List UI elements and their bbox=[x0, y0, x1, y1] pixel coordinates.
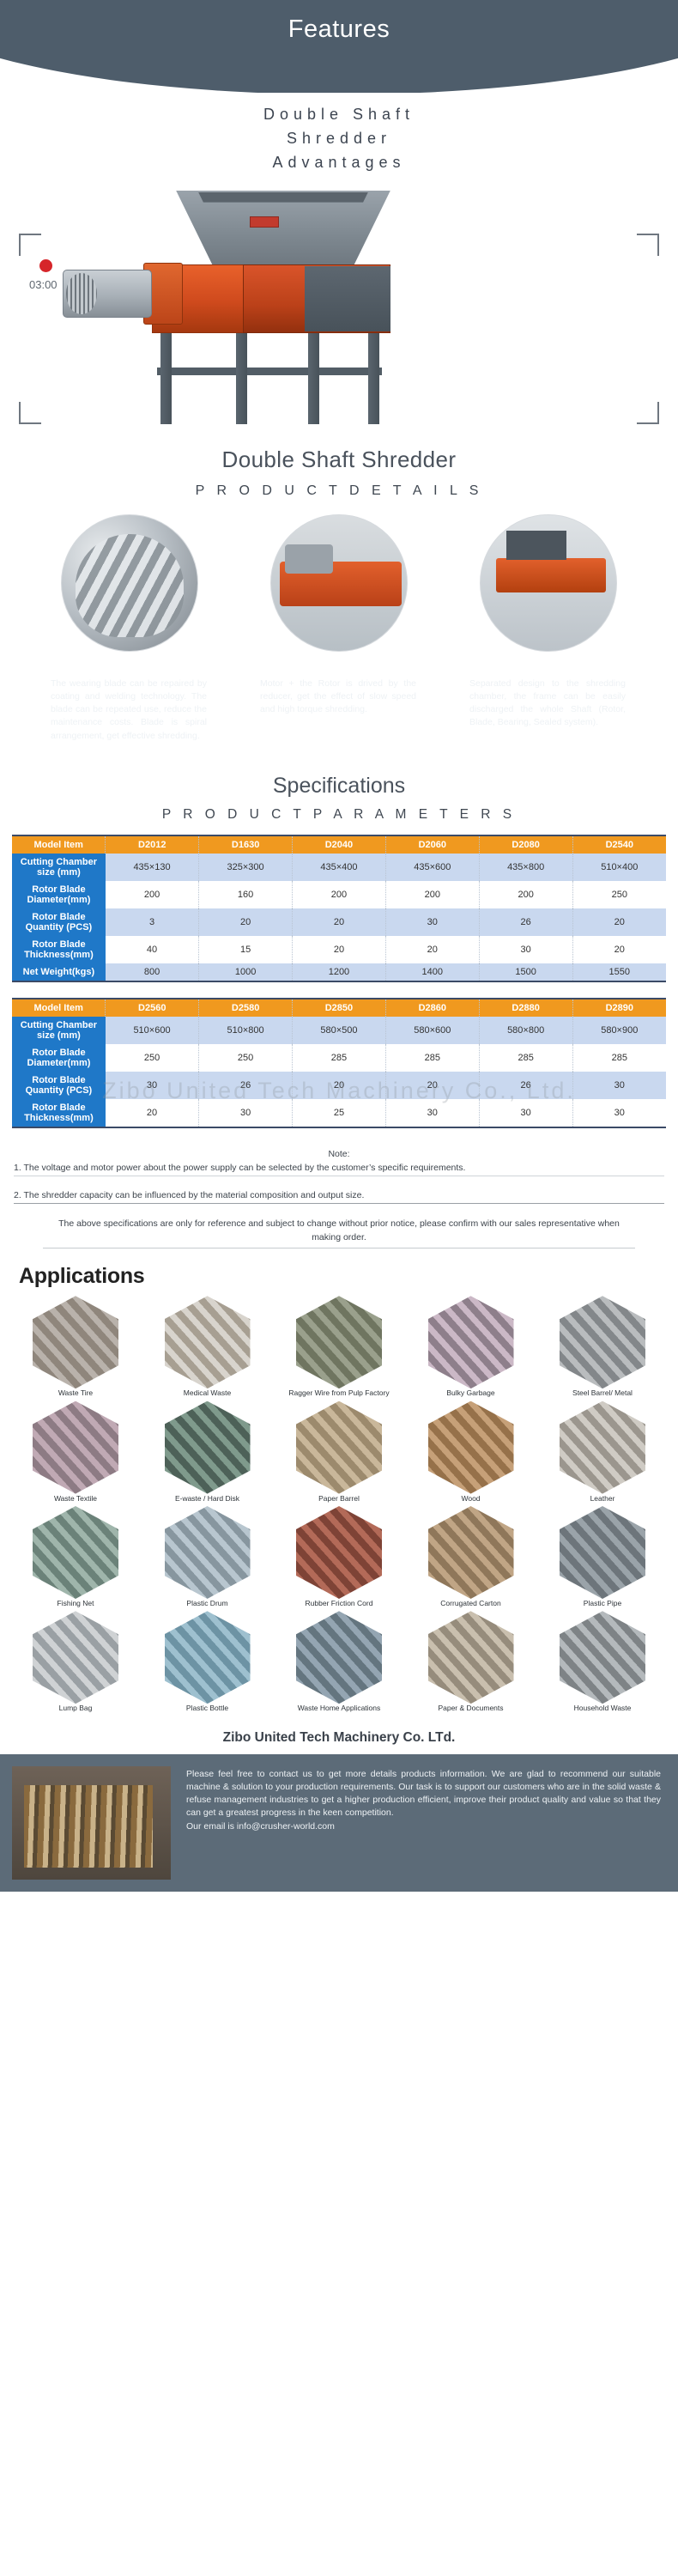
column-header-model-item: Model Item bbox=[12, 835, 106, 854]
spec-notes: Note: 1. The voltage and motor power abo… bbox=[0, 1144, 678, 1249]
row-label: Cutting Chamber size (mm) bbox=[12, 854, 106, 881]
table-cell: 20 bbox=[293, 1072, 386, 1099]
application-caption: Plastic Drum bbox=[149, 1600, 266, 1607]
application-image bbox=[560, 1401, 645, 1494]
footer-contact: Please feel free to contact us to get mo… bbox=[0, 1754, 678, 1892]
table-cell: 510×800 bbox=[199, 1017, 293, 1044]
note-2: 2. The shredder capacity can be influenc… bbox=[14, 1190, 664, 1204]
application-item[interactable]: Paper & Documents bbox=[413, 1611, 530, 1712]
spec-tables: Model ItemD2012D1630D2040D2060D2080D2540… bbox=[0, 835, 678, 1128]
table-cell: 435×600 bbox=[385, 854, 479, 881]
row-label: Rotor Blade Diameter(mm) bbox=[12, 881, 106, 908]
table-cell: 510×400 bbox=[572, 854, 666, 881]
separated-frame-image bbox=[480, 514, 617, 652]
note-1: 1. The voltage and motor power about the… bbox=[14, 1163, 664, 1176]
table-cell: 30 bbox=[385, 1099, 479, 1127]
feature-item: The wearing blade can be repaired by coa… bbox=[35, 514, 224, 751]
table-cell: 30 bbox=[385, 908, 479, 936]
table-cell: 20 bbox=[572, 936, 666, 963]
application-image bbox=[165, 1611, 251, 1704]
table-row: Rotor Blade Thickness(mm)203025303030 bbox=[12, 1099, 666, 1127]
column-header-model: D2890 bbox=[572, 999, 666, 1017]
feature-item: Separated design to the shredding chambe… bbox=[454, 514, 643, 751]
application-image bbox=[33, 1401, 118, 1494]
application-image bbox=[165, 1401, 251, 1494]
company-name: Zibo United Tech Machinery Co. LTd. bbox=[0, 1716, 678, 1754]
table-cell: 250 bbox=[106, 1044, 199, 1072]
table-cell: 40 bbox=[106, 936, 199, 963]
table-cell: 435×130 bbox=[106, 854, 199, 881]
table-row: Rotor Blade Thickness(mm)401520203020 bbox=[12, 936, 666, 963]
machine-hopper-rim bbox=[198, 192, 368, 203]
feature-text: Separated design to the shredding chambe… bbox=[454, 664, 643, 738]
row-label: Rotor Blade Diameter(mm) bbox=[12, 1044, 106, 1072]
application-item[interactable]: Plastic Drum bbox=[149, 1506, 266, 1607]
application-item[interactable]: Waste Textile bbox=[17, 1401, 134, 1503]
table-row: Net Weight(kgs)80010001200140015001550 bbox=[12, 963, 666, 981]
application-item[interactable]: E-waste / Hard Disk bbox=[149, 1401, 266, 1503]
application-caption: Plastic Bottle bbox=[149, 1704, 266, 1712]
table-cell: 20 bbox=[293, 908, 386, 936]
table-cell: 1200 bbox=[293, 963, 386, 981]
application-image bbox=[33, 1506, 118, 1599]
table-cell: 30 bbox=[479, 1099, 572, 1127]
table-row: Rotor Blade Quantity (PCS)32020302620 bbox=[12, 908, 666, 936]
column-header-model: D2860 bbox=[385, 999, 479, 1017]
table-cell: 26 bbox=[199, 1072, 293, 1099]
application-image bbox=[165, 1506, 251, 1599]
column-header-model: D2040 bbox=[293, 835, 386, 854]
machine-leg-crossbar bbox=[157, 368, 382, 375]
feature-text: The wearing blade can be repaired by coa… bbox=[35, 664, 224, 751]
row-label: Rotor Blade Thickness(mm) bbox=[12, 936, 106, 963]
product-video-frame[interactable]: 03:00 bbox=[0, 184, 678, 441]
specifications-title: Specifications bbox=[0, 774, 678, 799]
application-caption: Wood bbox=[413, 1495, 530, 1503]
feature-text: Motor + the Rotor is drived by the reduc… bbox=[245, 664, 433, 726]
application-caption: Waste Home Applications bbox=[281, 1704, 397, 1712]
column-header-model: D2012 bbox=[106, 835, 199, 854]
machine-leg bbox=[160, 333, 172, 424]
feature-columns: The wearing blade can be repaired by coa… bbox=[0, 514, 678, 751]
table-cell: 200 bbox=[293, 881, 386, 908]
spec-table-2: Model ItemD2560D2580D2850D2860D2880D2890… bbox=[12, 998, 666, 1128]
application-image bbox=[296, 1611, 382, 1704]
application-item[interactable]: Waste Tire bbox=[17, 1296, 134, 1397]
application-item[interactable]: Waste Home Applications bbox=[281, 1611, 397, 1712]
footer-body: Please feel free to contact us to get mo… bbox=[186, 1769, 661, 1819]
application-caption: Bulky Garbage bbox=[413, 1389, 530, 1397]
application-item[interactable]: Rubber Friction Cord bbox=[281, 1506, 397, 1607]
application-item[interactable]: Fishing Net bbox=[17, 1506, 134, 1607]
application-image bbox=[296, 1296, 382, 1388]
table-cell: 250 bbox=[572, 881, 666, 908]
table-cell: 325×300 bbox=[199, 854, 293, 881]
frame-corner-bottom-right bbox=[637, 402, 659, 424]
table-cell: 1400 bbox=[385, 963, 479, 981]
application-image bbox=[560, 1296, 645, 1388]
application-caption: Fishing Net bbox=[17, 1600, 134, 1607]
subheading-line-1: Double Shaft bbox=[0, 103, 678, 127]
subheading-line-3: Advantages bbox=[0, 151, 678, 175]
table-cell: 580×800 bbox=[479, 1017, 572, 1044]
table-cell: 285 bbox=[572, 1044, 666, 1072]
table-row: Cutting Chamber size (mm)510×600510×8005… bbox=[12, 1017, 666, 1044]
table-cell: 1500 bbox=[479, 963, 572, 981]
table-cell: 200 bbox=[106, 881, 199, 908]
row-label: Rotor Blade Thickness(mm) bbox=[12, 1099, 106, 1127]
column-header-model: D2560 bbox=[106, 999, 199, 1017]
shredder-chamber-photo bbox=[12, 1766, 171, 1880]
frame-corner-bottom-left bbox=[19, 402, 41, 424]
table-cell: 1550 bbox=[572, 963, 666, 981]
application-image bbox=[560, 1506, 645, 1599]
applications-row: Waste TireMedical WasteRagger Wire from … bbox=[17, 1296, 661, 1397]
table-cell: 200 bbox=[479, 881, 572, 908]
notes-heading: Note: bbox=[14, 1149, 664, 1159]
table-cell: 3 bbox=[106, 908, 199, 936]
motor-rotor-image bbox=[270, 514, 408, 652]
table-row: Rotor Blade Quantity (PCS)302620202630 bbox=[12, 1072, 666, 1099]
application-image bbox=[428, 1611, 514, 1704]
table-cell: 510×600 bbox=[106, 1017, 199, 1044]
table-cell: 800 bbox=[106, 963, 199, 981]
feature-item: Motor + the Rotor is drived by the reduc… bbox=[245, 514, 433, 751]
application-caption: Medical Waste bbox=[149, 1389, 266, 1397]
table-cell: 580×600 bbox=[385, 1017, 479, 1044]
table-header-row: Model ItemD2012D1630D2040D2060D2080D2540 bbox=[12, 835, 666, 854]
application-item[interactable]: Lump Bag bbox=[17, 1611, 134, 1712]
table-row: Cutting Chamber size (mm)435×130325×3004… bbox=[12, 854, 666, 881]
table-cell: 160 bbox=[199, 881, 293, 908]
table-cell: 20 bbox=[385, 1072, 479, 1099]
table-header-row: Model ItemD2560D2580D2850D2860D2880D2890 bbox=[12, 999, 666, 1017]
application-caption: Steel Barrel/ Metal bbox=[544, 1389, 661, 1397]
column-header-model: D2880 bbox=[479, 999, 572, 1017]
table-cell: 1000 bbox=[199, 963, 293, 981]
application-image bbox=[428, 1506, 514, 1599]
machine-body-rear bbox=[305, 266, 390, 331]
table-cell: 285 bbox=[385, 1044, 479, 1072]
specifications-subtitle: P R O D U C T P A R A M E T E R S bbox=[0, 807, 678, 823]
table-row: Rotor Blade Diameter(mm)2502502852852852… bbox=[12, 1044, 666, 1072]
spec-table-1: Model ItemD2012D1630D2040D2060D2080D2540… bbox=[12, 835, 666, 982]
subheading-line-2: Shredder bbox=[0, 127, 678, 151]
application-item[interactable]: Medical Waste bbox=[149, 1296, 266, 1397]
application-image bbox=[165, 1296, 251, 1388]
footer-email: Our email is info@crusher-world.com bbox=[186, 1820, 661, 1833]
table-cell: 15 bbox=[199, 936, 293, 963]
product-page: Features Double Shaft Shredder Advantage… bbox=[0, 0, 678, 1892]
note-3: The above specifications are only for re… bbox=[43, 1218, 635, 1249]
row-label: Net Weight(kgs) bbox=[12, 963, 106, 981]
application-image bbox=[296, 1401, 382, 1494]
table-cell: 25 bbox=[293, 1099, 386, 1127]
application-caption: Household Waste bbox=[544, 1704, 661, 1712]
page-title: Features bbox=[0, 15, 678, 44]
hero-background-curve bbox=[0, 0, 678, 93]
application-image bbox=[33, 1611, 118, 1704]
table-cell: 20 bbox=[572, 908, 666, 936]
applications-title: Applications bbox=[0, 1249, 678, 1296]
machine-motor-fins bbox=[66, 273, 97, 314]
column-header-model: D2580 bbox=[199, 999, 293, 1017]
table-cell: 435×800 bbox=[479, 854, 572, 881]
product-subheading: Double Shaft Shredder Advantages bbox=[0, 103, 678, 175]
frame-corner-top-left bbox=[19, 234, 41, 256]
application-image bbox=[428, 1401, 514, 1494]
application-caption: Paper & Documents bbox=[413, 1704, 530, 1712]
machine-leg bbox=[368, 333, 379, 424]
table-cell: 285 bbox=[293, 1044, 386, 1072]
frame-corner-top-right bbox=[637, 234, 659, 256]
application-item[interactable]: Ragger Wire from Pulp Factory bbox=[281, 1296, 397, 1397]
table-cell: 580×500 bbox=[293, 1017, 386, 1044]
application-caption: Waste Tire bbox=[17, 1389, 134, 1397]
column-header-model-item: Model Item bbox=[12, 999, 106, 1017]
table-cell: 285 bbox=[479, 1044, 572, 1072]
shredder-machine-photo bbox=[47, 191, 631, 440]
table-cell: 30 bbox=[479, 936, 572, 963]
machine-leg bbox=[236, 333, 247, 424]
column-header-model: D2850 bbox=[293, 999, 386, 1017]
table-cell: 30 bbox=[572, 1099, 666, 1127]
application-image bbox=[33, 1296, 118, 1388]
application-caption: Paper Barrel bbox=[281, 1495, 397, 1503]
machine-warning-label bbox=[250, 216, 279, 228]
application-image bbox=[296, 1506, 382, 1599]
application-item[interactable]: Wood bbox=[413, 1401, 530, 1503]
application-caption: Plastic Pipe bbox=[544, 1600, 661, 1607]
column-header-model: D2080 bbox=[479, 835, 572, 854]
table-cell: 30 bbox=[199, 1099, 293, 1127]
machine-leg bbox=[308, 333, 319, 424]
column-header-model: D2060 bbox=[385, 835, 479, 854]
applications-grid: Waste TireMedical WasteRagger Wire from … bbox=[0, 1296, 678, 1712]
table-row: Rotor Blade Diameter(mm)2001602002002002… bbox=[12, 881, 666, 908]
product-details-subtitle: P R O D U C T D E T A I L S bbox=[0, 483, 678, 499]
table-cell: 30 bbox=[572, 1072, 666, 1099]
footer-text-block: Please feel free to contact us to get mo… bbox=[171, 1754, 678, 1892]
application-caption: Ragger Wire from Pulp Factory bbox=[281, 1389, 397, 1397]
column-header-model: D2540 bbox=[572, 835, 666, 854]
row-label: Rotor Blade Quantity (PCS) bbox=[12, 908, 106, 936]
application-item[interactable]: Bulky Garbage bbox=[413, 1296, 530, 1397]
hero-banner: Features bbox=[0, 0, 678, 93]
table-cell: 20 bbox=[385, 936, 479, 963]
application-item[interactable]: Corrugated Carton bbox=[413, 1506, 530, 1607]
row-label: Cutting Chamber size (mm) bbox=[12, 1017, 106, 1044]
applications-row: Fishing NetPlastic DrumRubber Friction C… bbox=[17, 1506, 661, 1607]
application-caption: Corrugated Carton bbox=[413, 1600, 530, 1607]
row-label: Rotor Blade Quantity (PCS) bbox=[12, 1072, 106, 1099]
application-caption: Rubber Friction Cord bbox=[281, 1600, 397, 1607]
blade-closeup-image bbox=[61, 514, 198, 652]
table-cell: 580×900 bbox=[572, 1017, 666, 1044]
application-item[interactable]: Household Waste bbox=[544, 1611, 661, 1712]
application-image bbox=[560, 1611, 645, 1704]
application-item[interactable]: Paper Barrel bbox=[281, 1401, 397, 1503]
applications-row: Lump BagPlastic BottleWaste Home Applica… bbox=[17, 1611, 661, 1712]
applications-row: Waste TextileE-waste / Hard DiskPaper Ba… bbox=[17, 1401, 661, 1503]
application-caption: Waste Textile bbox=[17, 1495, 134, 1503]
column-header-model: D1630 bbox=[199, 835, 293, 854]
table-cell: 435×400 bbox=[293, 854, 386, 881]
table-cell: 250 bbox=[199, 1044, 293, 1072]
application-image bbox=[428, 1296, 514, 1388]
table-cell: 20 bbox=[293, 936, 386, 963]
table-cell: 20 bbox=[106, 1099, 199, 1127]
application-item[interactable]: Leather bbox=[544, 1401, 661, 1503]
machine-legs bbox=[157, 333, 382, 424]
table-cell: 30 bbox=[106, 1072, 199, 1099]
product-details-title: Double Shaft Shredder bbox=[0, 447, 678, 473]
table-cell: 20 bbox=[199, 908, 293, 936]
table-cell: 26 bbox=[479, 1072, 572, 1099]
application-item[interactable]: Plastic Bottle bbox=[149, 1611, 266, 1712]
application-caption: E-waste / Hard Disk bbox=[149, 1495, 266, 1503]
table-cell: 200 bbox=[385, 881, 479, 908]
application-caption: Lump Bag bbox=[17, 1704, 134, 1712]
application-item[interactable]: Plastic Pipe bbox=[544, 1506, 661, 1607]
application-item[interactable]: Steel Barrel/ Metal bbox=[544, 1296, 661, 1397]
table-cell: 26 bbox=[479, 908, 572, 936]
application-caption: Leather bbox=[544, 1495, 661, 1503]
